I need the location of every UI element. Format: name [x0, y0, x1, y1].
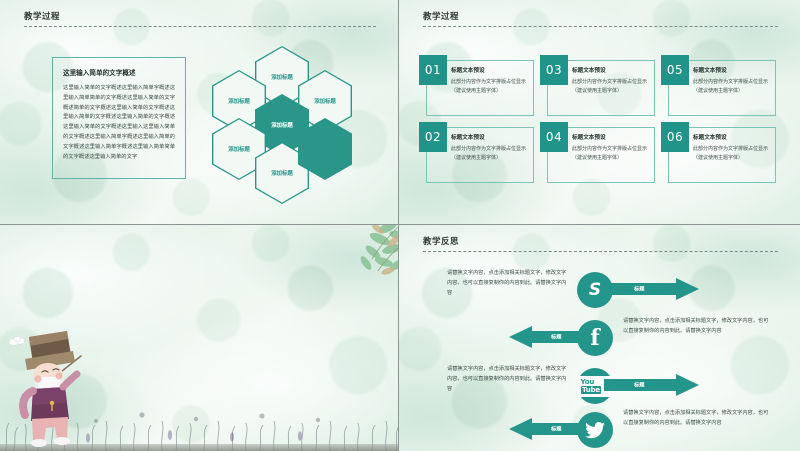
- social-row-youtube[interactable]: 请替换文字内容，点击添加相关标题文字，修改文字内容，也可以直接复制你的内容到此。…: [399, 363, 800, 409]
- social-row-skype-arrow-right[interactable]: 标题: [604, 278, 699, 300]
- facebook-icon[interactable]: f: [577, 320, 613, 356]
- hexagon-top-center-label: 添加标题: [271, 73, 293, 81]
- card-06-text: 此部分内容作为文字排版占位显示（建议使用主题字体）: [693, 145, 770, 163]
- hexagon-bottom-center-label: 添加标题: [271, 169, 293, 177]
- skype-icon-glyph: S: [589, 282, 601, 299]
- summary-textbox[interactable]: 这里输入简单的文字概述 这里输入简单的文字概述这里输入简单字概述这里输入简单简单…: [52, 57, 186, 179]
- card-05-number: 05: [661, 55, 689, 85]
- slide-teaching-process-cards[interactable]: 教学过程 01 标题文本预设 此部分内容作为文字排版占位显示（建议使用主题字体）…: [399, 0, 800, 225]
- social-arrow-list: 请替换文字内容，点击添加相关标题文字，修改文字内容，也可以直接复制你的内容到此。…: [399, 257, 800, 451]
- hexagon-center-label: 添加标题: [271, 121, 293, 129]
- card-03-title: 标题文本预设: [572, 66, 649, 74]
- hexagon-honeycomb: 添加标题 添加标题 添加标题 添加标题 添加标题: [212, 46, 352, 186]
- social-row-youtube-arrow-label: 标题: [634, 382, 644, 389]
- social-row-facebook-text: 请替换文字内容，点击添加相关标题文字，修改文字内容，也可以直接复制你的内容到此。…: [623, 317, 771, 337]
- card-01[interactable]: 01 标题文本预设 此部分内容作为文字排版占位显示（建议使用主题字体）: [426, 60, 534, 116]
- card-02-title: 标题文本预设: [451, 133, 528, 141]
- summary-textbox-body: 这里输入简单的文字概述这里输入简单字概述这里输入简单简单的文字概述这里输入简单的…: [63, 84, 175, 162]
- card-06-title: 标题文本预设: [693, 133, 770, 141]
- card-04-text: 此部分内容作为文字排版占位显示（建议使用主题字体）: [572, 145, 649, 163]
- teacher-character-illustration: [11, 329, 89, 447]
- social-row-facebook-arrow-label: 标题: [551, 334, 561, 341]
- card-02-number: 02: [419, 122, 447, 152]
- card-06-body: 标题文本预设 此部分内容作为文字排版占位显示（建议使用主题字体）: [693, 133, 770, 163]
- slide1-header-rule: [24, 26, 376, 27]
- card-01-body: 标题文本预设 此部分内容作为文字排版占位显示（建议使用主题字体）: [451, 66, 528, 96]
- card-06-number: 06: [661, 122, 689, 152]
- card-02[interactable]: 02 标题文本预设 此部分内容作为文字排版占位显示（建议使用主题字体）: [426, 127, 534, 183]
- social-row-twitter-arrow-label: 标题: [551, 426, 561, 433]
- card-06[interactable]: 06 标题文本预设 此部分内容作为文字排版占位显示（建议使用主题字体）: [668, 127, 776, 183]
- hexagon-right-upper-label: 添加标题: [314, 97, 336, 105]
- card-03-number: 03: [540, 55, 568, 85]
- slide-section-divider-reflection[interactable]: 04 教学反思: [0, 225, 399, 451]
- social-row-youtube-text: 请替换文字内容，点击添加相关标题文字，修改文字内容，也可以直接复制你的内容到此。…: [447, 365, 567, 395]
- card-04-title: 标题文本预设: [572, 133, 649, 141]
- hexagon-left-lower-label: 添加标题: [228, 145, 250, 153]
- card-05-text: 此部分内容作为文字排版占位显示（建议使用主题字体）: [693, 78, 770, 96]
- social-row-skype[interactable]: 请替换文字内容，点击添加相关标题文字，修改文字内容，也可以直接复制你的内容到此。…: [399, 267, 800, 313]
- social-row-facebook[interactable]: 标题 f 请替换文字内容，点击添加相关标题文字，修改文字内容，也可以直接复制你的…: [399, 315, 800, 361]
- slide4-header-rule: [423, 251, 778, 252]
- arrow-right-icon: [604, 374, 699, 396]
- card-row-top: 01 标题文本预设 此部分内容作为文字排版占位显示（建议使用主题字体） 03 标…: [426, 60, 776, 116]
- twitter-icon[interactable]: [577, 412, 613, 448]
- social-row-twitter-text: 请替换文字内容，点击添加相关标题文字，修改文字内容，也可以直接复制你的内容到此。…: [623, 409, 771, 429]
- slide-teaching-process-hexagons[interactable]: 教学过程 这里输入简单的文字概述 这里输入简单的文字概述这里输入简单字概述这里输…: [0, 0, 399, 225]
- card-03[interactable]: 03 标题文本预设 此部分内容作为文字排版占位显示（建议使用主题字体）: [547, 60, 655, 116]
- social-row-youtube-arrow-right[interactable]: 标题: [604, 374, 699, 396]
- card-01-text: 此部分内容作为文字排版占位显示（建议使用主题字体）: [451, 78, 528, 96]
- numbered-card-grid: 01 标题文本预设 此部分内容作为文字排版占位显示（建议使用主题字体） 03 标…: [426, 60, 776, 194]
- card-05[interactable]: 05 标题文本预设 此部分内容作为文字排版占位显示（建议使用主题字体）: [668, 60, 776, 116]
- facebook-icon-glyph: f: [590, 327, 599, 349]
- slide1-header: 教学过程: [24, 10, 376, 27]
- slide-deck: 教学过程 这里输入简单的文字概述 这里输入简单的文字概述这里输入简单字概述这里输…: [0, 0, 800, 451]
- card-04-number: 04: [540, 122, 568, 152]
- slide4-header: 教学反思: [423, 235, 778, 252]
- card-02-body: 标题文本预设 此部分内容作为文字排版占位显示（建议使用主题字体）: [451, 133, 528, 163]
- card-03-body: 标题文本预设 此部分内容作为文字排版占位显示（建议使用主题字体）: [572, 66, 649, 96]
- social-row-skype-text: 请替换文字内容，点击添加相关标题文字，修改文字内容，也可以直接复制你的内容到此。…: [447, 269, 567, 299]
- card-row-bottom: 02 标题文本预设 此部分内容作为文字排版占位显示（建议使用主题字体） 04 标…: [426, 127, 776, 183]
- card-04-body: 标题文本预设 此部分内容作为文字排版占位显示（建议使用主题字体）: [572, 133, 649, 163]
- slide2-header-rule: [423, 26, 778, 27]
- card-04[interactable]: 04 标题文本预设 此部分内容作为文字排版占位显示（建议使用主题字体）: [547, 127, 655, 183]
- card-03-text: 此部分内容作为文字排版占位显示（建议使用主题字体）: [572, 78, 649, 96]
- slide4-header-title: 教学反思: [423, 235, 778, 247]
- card-05-title: 标题文本预设: [693, 66, 770, 74]
- card-01-number: 01: [419, 55, 447, 85]
- summary-textbox-title: 这里输入简单的文字概述: [63, 67, 175, 77]
- card-02-text: 此部分内容作为文字排版占位显示（建议使用主题字体）: [451, 145, 528, 163]
- slide-teaching-reflection-social[interactable]: 教学反思 请替换文字内容，点击添加相关标题文字，修改文字内容，也可以直接复制你的…: [399, 225, 800, 451]
- leaves-decoration-icon: [328, 225, 399, 281]
- social-row-skype-arrow-label: 标题: [634, 286, 644, 293]
- social-row-twitter[interactable]: 标题 请替换文字内容，点击添加相关标题文字，修改文字内容，也可以直接复制你的内容…: [399, 407, 800, 451]
- twitter-icon-glyph: [585, 422, 605, 439]
- slide2-header-title: 教学过程: [423, 10, 778, 22]
- arrow-right-icon: [604, 278, 699, 300]
- hexagon-left-upper-label: 添加标题: [228, 97, 250, 105]
- card-05-body: 标题文本预设 此部分内容作为文字排版占位显示（建议使用主题字体）: [693, 66, 770, 96]
- slide1-header-title: 教学过程: [24, 10, 376, 22]
- card-01-title: 标题文本预设: [451, 66, 528, 74]
- slide2-header: 教学过程: [423, 10, 778, 27]
